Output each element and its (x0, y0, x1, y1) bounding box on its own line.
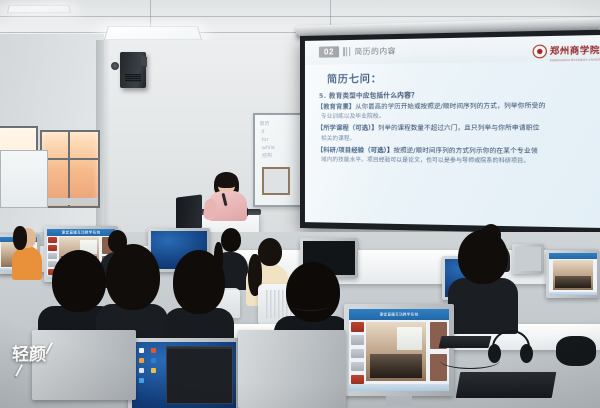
podium-laptop (176, 194, 202, 231)
university-name-en: ZHENGZHOU BUSINESS UNIVERSITY (550, 58, 600, 62)
slide-block-cont: 专业训练以及毕业院校。 (321, 112, 600, 121)
slide-block-line: 【所学课程（可选）】列举的课程数量不超过六门，且只列举与你所申请职位 (317, 125, 600, 134)
livestream-ui (549, 253, 597, 295)
monitor-center-stream[interactable]: 课堂直播互动教学系统 (344, 304, 454, 396)
livestream-titlebar: 课堂直播互动教学系统 (349, 309, 449, 320)
whiteboard-secondary (0, 150, 48, 208)
student-front-right-2 (448, 230, 518, 330)
open-window[interactable] (166, 346, 233, 404)
cable (440, 352, 500, 369)
ceiling-camera-icon (111, 62, 119, 70)
university-seal-icon (532, 45, 546, 59)
livestream-title: 课堂直播互动教学系统 (62, 230, 101, 235)
slide-block-cont: 域内的技能水平。项目经验可以是论文，也可以是参与导师或院系的科研项目。 (321, 156, 600, 166)
wall-picture-frame (262, 167, 290, 195)
whiteboard-handwriting: 简历 if for while 结构 (259, 120, 275, 160)
speaker-bracket (141, 55, 147, 67)
university-logo: 郑州商学院 ZHENGZHOU BUSINESS UNIVERSITY (532, 39, 600, 63)
slide-body: 5. 教育类型中应包括什么内容？ 【教育背景】从你最高的学历开始或按照逆/顺时间… (317, 88, 600, 170)
classroom-photo: 简历 if for while 结构 02 简历的内容 郑州商学院 ZHENGZ… (0, 0, 600, 408)
section-divider-bars (343, 47, 350, 56)
desktop-icon[interactable] (139, 358, 144, 363)
presenter (205, 175, 249, 219)
slide-block-cont: 相关的课程。 (321, 135, 600, 144)
ceiling-light-panel (104, 27, 202, 41)
ceiling-light-panel-2 (7, 5, 71, 13)
university-name-cn: 郑州商学院 (550, 46, 600, 57)
slide-section-badge: 02 简历的内容 (319, 45, 396, 57)
monitor-right-3[interactable] (546, 250, 600, 298)
slide-heading: 简历七问： (327, 70, 382, 86)
monitor-screen: 课堂直播互动教学系统 (349, 309, 449, 391)
desktop-icon[interactable] (139, 348, 144, 353)
desktop-icon[interactable] (151, 368, 156, 373)
section-number: 02 (319, 46, 339, 57)
section-title: 简历的内容 (355, 45, 397, 57)
headphones-right[interactable] (556, 336, 596, 366)
livestream-video (553, 260, 593, 290)
slide-block-text: 从你最高的学历开始或按照逆/顺时间序列的方式，列举你所受的 (355, 102, 545, 110)
logo-text-group: 郑州商学院 ZHENGZHOU BUSINESS UNIVERSITY (550, 39, 600, 62)
livestream-title: 课堂直播互动教学系统 (380, 312, 419, 317)
slide-block-text: 按照逆/顺时间序列的方式列示你的在某个专业领 (394, 147, 538, 155)
desktop-icon[interactable] (139, 368, 144, 373)
monitor-bezel (32, 330, 136, 400)
desktop-icon[interactable] (139, 378, 144, 383)
monitor-screen (132, 342, 236, 408)
slide-question: 5. 教育类型中应包括什么内容？ (319, 88, 600, 100)
keyboard[interactable] (456, 372, 557, 398)
headphone-earcup-2 (520, 344, 533, 363)
monitor-back-front-left[interactable] (32, 330, 136, 400)
monitor-screen (549, 253, 597, 295)
keyboard-2[interactable] (439, 336, 492, 348)
livestream-titlebar (549, 253, 597, 259)
presenter-hair (215, 172, 238, 188)
livestream-side-buttons[interactable] (351, 322, 364, 384)
monitor-desktop-front[interactable] (128, 338, 240, 408)
livestream-toolbar[interactable] (549, 292, 597, 295)
window-left-2 (40, 130, 100, 208)
monitor-bezel (238, 330, 346, 408)
livestream-toolbar[interactable] (349, 384, 449, 391)
monitor-back-front-center[interactable] (238, 330, 346, 408)
desktop-icon[interactable] (151, 358, 156, 363)
slide-block-text: 列举的课程数量不超过六门，且只列举与你所申请职位 (378, 125, 540, 132)
monitor-bezel: 课堂直播互动教学系统 (344, 304, 454, 396)
monitor-bezel (128, 338, 240, 408)
monitor-bezel (546, 250, 600, 298)
projection-screen: 02 简历的内容 郑州商学院 ZHENGZHOU BUSINESS UNIVER… (300, 29, 600, 234)
slide-block-line: 【科研/项目经验（可选）】按照逆/顺时间序列的方式列示你的在某个专业领 (317, 147, 600, 157)
monitor-stand (386, 396, 412, 406)
monitor-screen (515, 247, 541, 271)
slide-block-tag: 【科研/项目经验（可选）】 (317, 147, 394, 154)
desktop-icon[interactable] (151, 348, 156, 353)
cable-2 (290, 300, 330, 311)
slide-block-tag: 【教育背景】 (317, 104, 355, 111)
slide-block-tag: 【所学课程（可选）】 (317, 125, 378, 132)
livestream-thumbnails[interactable] (430, 322, 447, 381)
livestream-ui: 课堂直播互动教学系统 (349, 309, 449, 391)
slide-block-line: 【教育背景】从你最高的学历开始或按照逆/顺时间序列的方式，列举你所受的 (317, 102, 600, 112)
slide-canvas: 02 简历的内容 郑州商学院 ZHENGZHOU BUSINESS UNIVER… (305, 35, 600, 228)
windows-desktop (132, 342, 236, 408)
livestream-video (366, 322, 426, 381)
